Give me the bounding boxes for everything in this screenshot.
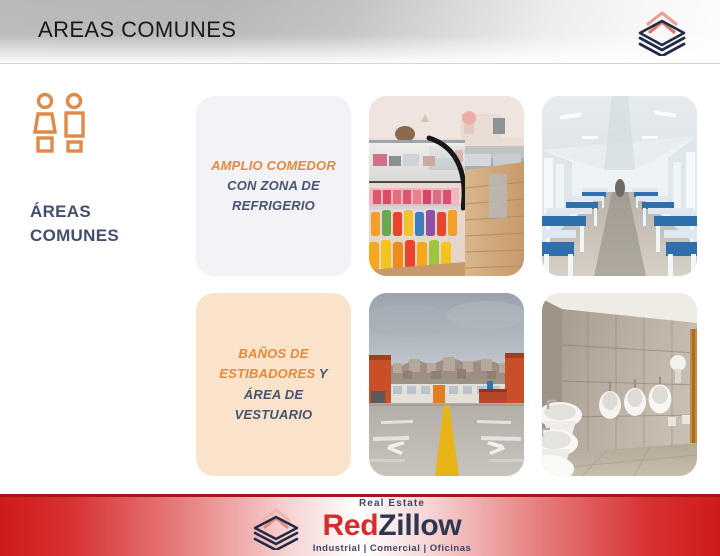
- slide-header: AREAS COMUNES: [0, 0, 720, 64]
- footer-brand: RedZillow: [313, 511, 472, 541]
- photo-dining-hall: [542, 96, 697, 276]
- card-banos-highlight: BAÑOS DE ESTIBADORES: [219, 346, 315, 381]
- footer-tagline-bottom: Industrial | Comercial | Oficinas: [313, 544, 472, 554]
- card-banos: BAÑOS DE ESTIBADORES Y ÁREA DE VESTUARIO: [196, 293, 351, 476]
- sidebar-section: ÁREAS COMUNES: [22, 92, 182, 248]
- footer-tagline-top: Real Estate: [313, 499, 472, 509]
- content-grid: AMPLIO COMEDOR CON ZONA DE REFRIGERIO: [196, 96, 698, 476]
- card-comedor: AMPLIO COMEDOR CON ZONA DE REFRIGERIO: [196, 96, 351, 276]
- sidebar-title: ÁREAS COMUNES: [30, 200, 182, 248]
- restroom-figures-icon: [30, 92, 92, 158]
- photo-outdoor-yard: [369, 293, 524, 476]
- card-banos-text: BAÑOS DE ESTIBADORES Y ÁREA DE VESTUARIO: [208, 344, 339, 425]
- sidebar-title-line1: ÁREAS: [30, 200, 182, 224]
- stacked-layers-logo-icon: [249, 504, 305, 550]
- slide-root: AREAS COMUNES: [0, 0, 720, 556]
- card-comedor-rest: CON ZONA DE REFRIGERIO: [227, 178, 320, 213]
- photo-cafeteria-counter: [369, 96, 524, 276]
- sidebar-title-line2: COMUNES: [30, 224, 182, 248]
- card-comedor-text: AMPLIO COMEDOR CON ZONA DE REFRIGERIO: [208, 156, 339, 216]
- footer-brand-second: Zillow: [378, 509, 461, 542]
- page-title: AREAS COMUNES: [38, 17, 236, 43]
- stacked-layers-logo-icon: [632, 8, 692, 56]
- slide-footer: Real Estate RedZillow Industrial | Comer…: [0, 494, 720, 556]
- card-comedor-highlight: AMPLIO COMEDOR: [211, 158, 336, 173]
- photo-restroom: [542, 293, 697, 476]
- footer-brand-first: Red: [323, 509, 379, 542]
